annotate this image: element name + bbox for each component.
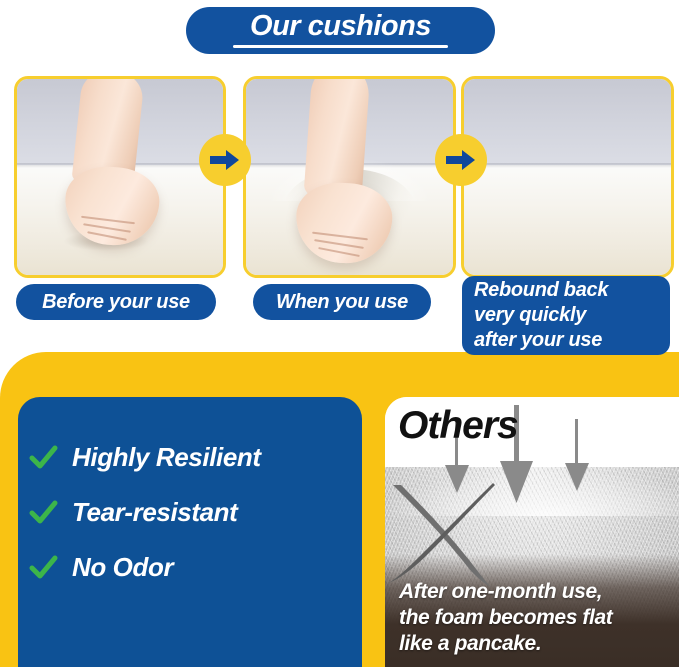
page-title: Our cushions <box>250 12 431 41</box>
step-image-during <box>243 76 456 278</box>
foam-scene-before <box>17 79 223 275</box>
arrow-right-badge-2 <box>435 134 487 186</box>
check-icon <box>28 498 58 528</box>
title-underline <box>233 45 448 48</box>
check-icon <box>28 443 58 473</box>
step-caption-before: Before your use <box>16 284 216 320</box>
features-panel <box>18 397 362 667</box>
page-title-banner: Our cushions <box>186 7 495 54</box>
x-cross-brush-icon <box>385 475 509 595</box>
foam-scene-after <box>464 79 671 275</box>
step-caption-after-line-2: very quickly <box>474 303 670 328</box>
foam-edge <box>464 163 671 168</box>
arrow-right-icon <box>446 148 476 172</box>
check-icon <box>28 553 58 583</box>
others-caption-line-3: like a pancake. <box>399 631 612 657</box>
feature-item-3: No Odor <box>28 552 173 583</box>
step-caption-after-line-3: after your use <box>474 328 670 353</box>
foam-surface <box>464 165 671 275</box>
step-caption-after: Rebound back very quickly after your use <box>462 276 670 355</box>
arrow-right-badge-1 <box>199 134 251 186</box>
feature-label-3: No Odor <box>72 552 173 583</box>
feature-label-2: Tear-resistant <box>72 497 237 528</box>
step-caption-during-label: When you use <box>276 291 408 314</box>
infographic-page: Our cushions <box>0 0 679 667</box>
others-title: Others <box>398 406 518 445</box>
feature-item-1: Highly Resilient <box>28 442 261 473</box>
step-image-before <box>14 76 226 278</box>
arrow-right-icon <box>210 148 240 172</box>
step-caption-before-label: Before your use <box>42 291 190 314</box>
others-caption-line-2: the foam becomes flat <box>399 605 612 631</box>
others-panel: Others After one-month use, the foam bec… <box>385 397 679 667</box>
feature-item-2: Tear-resistant <box>28 497 237 528</box>
step-caption-after-line-1: Rebound back <box>474 278 670 303</box>
others-caption-line-1: After one-month use, <box>399 579 612 605</box>
step-caption-during: When you use <box>253 284 431 320</box>
foam-backdrop <box>464 79 671 169</box>
step-image-after <box>461 76 674 278</box>
foam-scene-during <box>246 79 453 275</box>
others-caption: After one-month use, the foam becomes fl… <box>399 579 612 657</box>
feature-label-1: Highly Resilient <box>72 442 261 473</box>
